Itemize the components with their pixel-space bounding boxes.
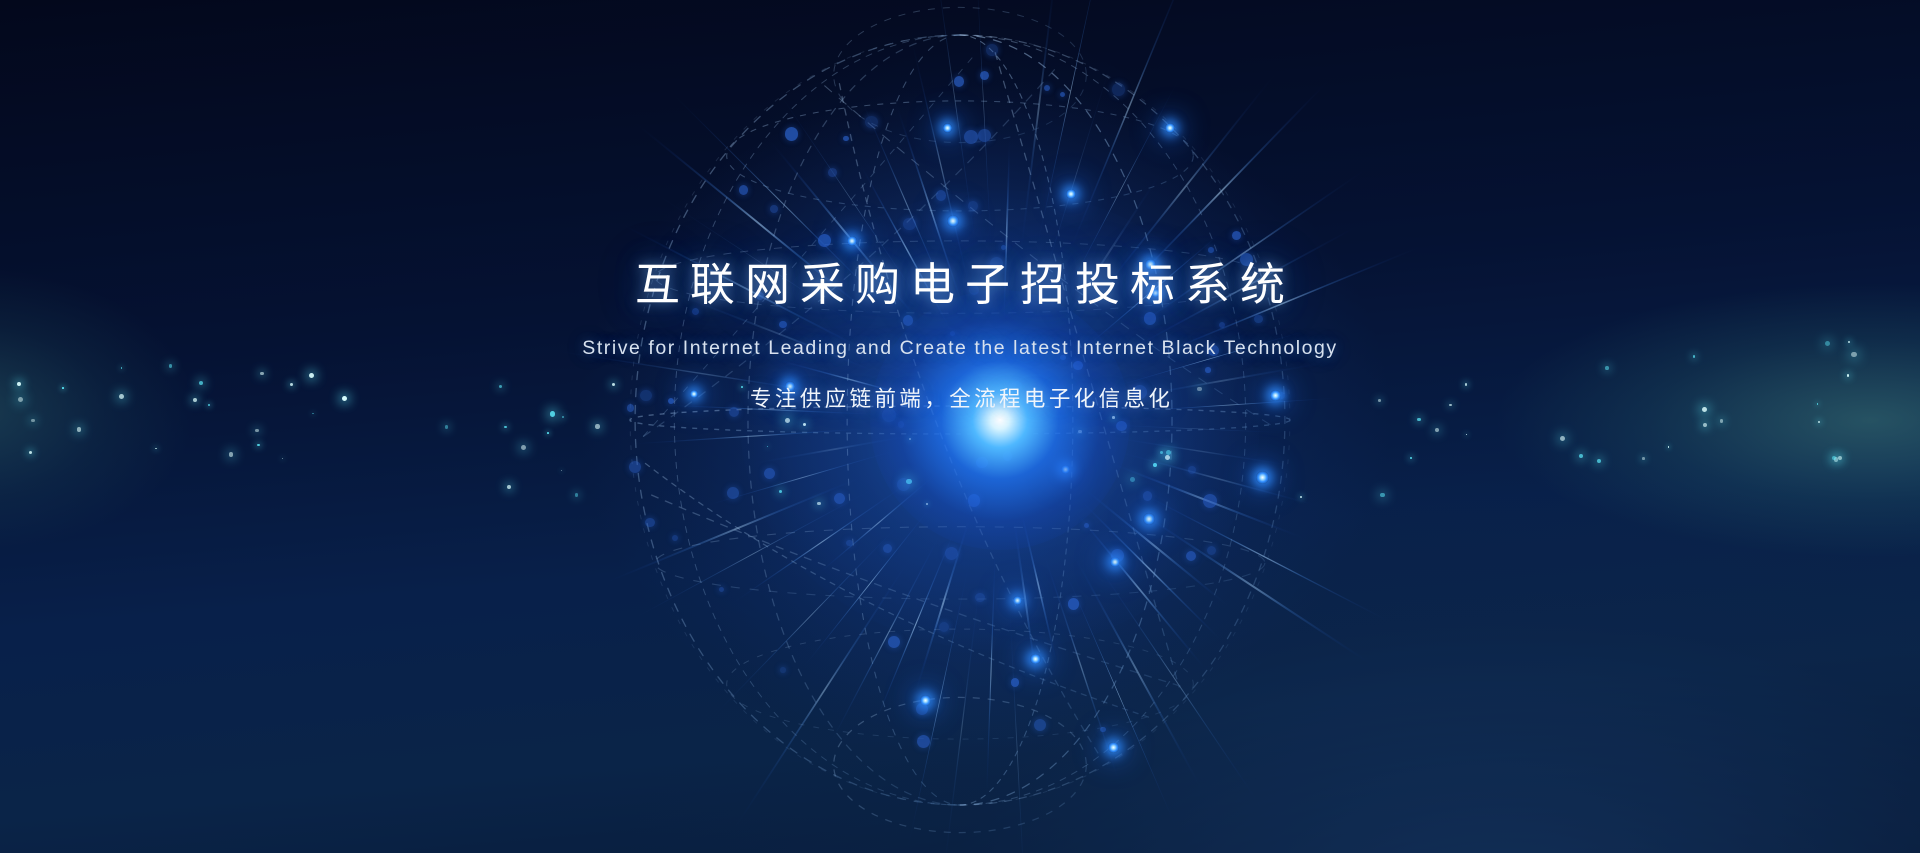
particle [257, 444, 259, 446]
globe-node [980, 71, 989, 80]
globe-node [727, 487, 739, 499]
globe-node [828, 168, 837, 177]
particle [1668, 446, 1669, 447]
globe-node [920, 695, 931, 706]
globe-node [865, 116, 878, 129]
particle [595, 424, 599, 428]
globe-node [1060, 92, 1065, 97]
particle [504, 426, 506, 428]
globe-node [770, 205, 777, 212]
page-title: 互联网采购电子招投标系统 [0, 262, 1920, 307]
globe-node [943, 123, 952, 132]
particle [1435, 428, 1439, 432]
globe-node [719, 587, 724, 592]
particle [1834, 457, 1839, 462]
globe-node [843, 136, 849, 142]
globe-node [1044, 85, 1050, 91]
particle [445, 425, 449, 429]
page-subtitle: Strive for Internet Leading and Create t… [0, 337, 1920, 360]
particle [1300, 496, 1302, 498]
particle [1818, 421, 1820, 423]
particle [229, 452, 234, 457]
globe-node [1256, 471, 1269, 484]
particle [562, 416, 564, 418]
globe-node [818, 234, 831, 247]
page-tagline: 专注供应链前端，全流程电子化信息化 [0, 382, 1920, 413]
particle [575, 493, 578, 496]
particle [1642, 457, 1645, 460]
particle [1832, 456, 1836, 460]
particle [1560, 436, 1565, 441]
globe-node [978, 129, 991, 142]
particle [1597, 459, 1601, 463]
particle [561, 470, 562, 471]
particle [547, 432, 549, 434]
globe-node [1108, 742, 1119, 753]
globe-node [1112, 83, 1124, 95]
globe-node [780, 667, 785, 672]
particle [1703, 423, 1707, 427]
particle [1380, 493, 1385, 498]
globe-node [916, 703, 928, 715]
particle [1838, 456, 1842, 460]
particle [255, 429, 259, 433]
globe-node [645, 518, 655, 528]
globe-node [1100, 727, 1105, 732]
globe-node [629, 461, 641, 473]
particle [1410, 457, 1412, 459]
particle [1720, 419, 1723, 422]
globe-node [1030, 654, 1041, 665]
globe-node [964, 130, 978, 144]
particle [1579, 454, 1583, 458]
globe-node [954, 76, 965, 87]
globe-node [739, 185, 749, 195]
globe-node [1165, 123, 1175, 133]
particle [31, 419, 35, 423]
globe-node [785, 127, 799, 141]
globe-node [986, 44, 997, 55]
globe-node [888, 636, 900, 648]
globe-node [1034, 719, 1046, 731]
particle [282, 458, 283, 459]
particle [155, 448, 157, 450]
globe-node [672, 535, 678, 541]
particle [77, 427, 81, 431]
globe-node [1011, 678, 1019, 686]
particle [521, 445, 526, 450]
particle [507, 485, 511, 489]
globe-node [1208, 247, 1214, 253]
globe-node [1232, 231, 1241, 240]
hero-copy: 互联网采购电子招投标系统 Strive for Internet Leading… [0, 262, 1920, 413]
globe-node [917, 735, 930, 748]
particle [1417, 418, 1420, 421]
hero-banner: 互联网采购电子招投标系统 Strive for Internet Leading… [0, 0, 1920, 853]
particle [1466, 434, 1467, 435]
particle [29, 451, 32, 454]
